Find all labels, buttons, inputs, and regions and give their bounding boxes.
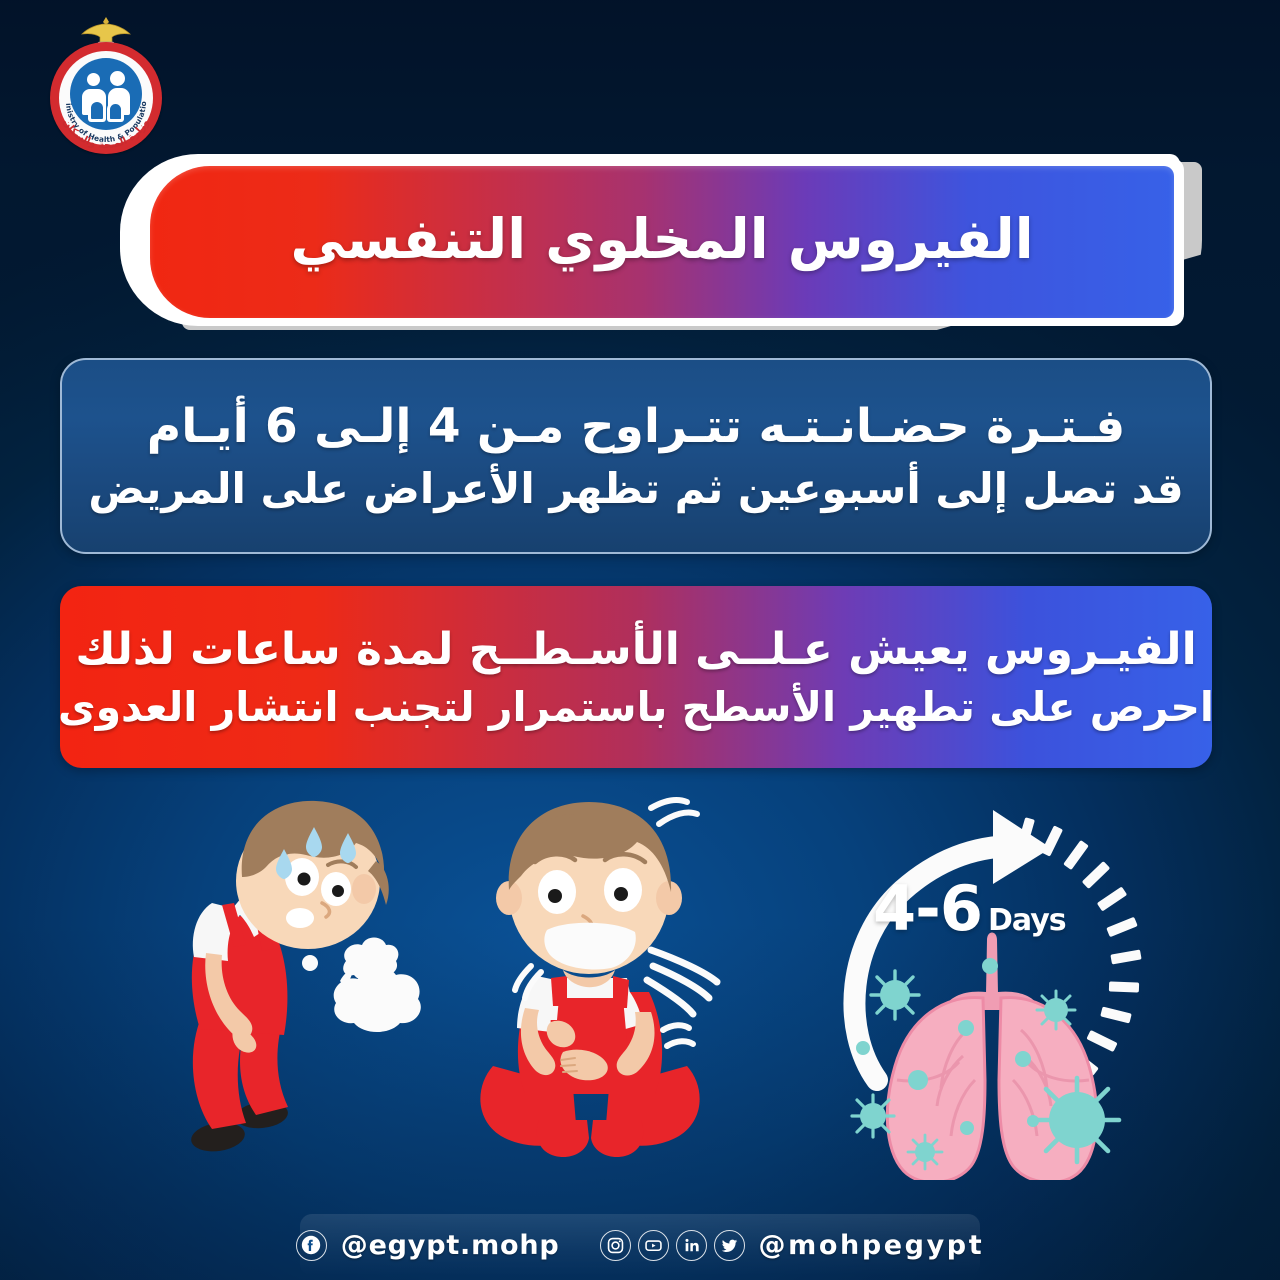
coughing-child-illustration — [455, 780, 725, 1180]
surface-line-1: الفيـروس يعيش عـلــى الأسـطــح لمدة ساعا… — [75, 624, 1196, 675]
social-footer: @egypt.mohp — [300, 1214, 980, 1276]
logo-family-circle — [70, 58, 142, 130]
youtube-icon[interactable] — [638, 1230, 669, 1261]
logo-outer-ring: Ministry of Health & Population وزارة ال… — [50, 42, 162, 154]
title-banner: الفيروس المخلوي التنفسي — [112, 150, 1202, 340]
days-unit-label: Days — [988, 903, 1066, 938]
twitter-icon[interactable] — [714, 1230, 745, 1261]
incubation-line-1: فـتـرة حضـانـتـه تتـراوح مـن 4 إلـى 6 أي… — [147, 399, 1125, 454]
linkedin-icon[interactable] — [676, 1230, 707, 1261]
illustration-row — [0, 775, 1280, 1175]
incubation-clock-illustration — [825, 780, 1170, 1180]
days-range-value: 4-6 — [873, 872, 982, 945]
infographic-poster: مصر Ministry of Health & Population وزار… — [0, 0, 1280, 1280]
page-title: الفيروس المخلوي التنفسي — [290, 207, 1033, 277]
shared-social-handle[interactable]: @mohpegypt — [759, 1230, 985, 1261]
incubation-period-box: فـتـرة حضـانـتـه تتـراوح مـن 4 إلـى 6 أي… — [60, 358, 1212, 554]
instagram-icon[interactable] — [600, 1230, 631, 1261]
social-icon-group — [600, 1230, 745, 1261]
surface-line-2: احرص على تطهير الأسطح باستمرار لتجنب انت… — [58, 683, 1214, 731]
ministry-logo: مصر Ministry of Health & Population وزار… — [42, 14, 170, 160]
incubation-line-2: قد تصل إلى أسبوعين ثم تظهر الأعراض على ا… — [88, 464, 1183, 513]
surface-survival-box: الفيـروس يعيش عـلــى الأسـطــح لمدة ساعا… — [60, 586, 1212, 768]
facebook-icon[interactable] — [296, 1230, 327, 1261]
incubation-days-label: 4-6 Days — [873, 872, 1066, 945]
facebook-handle[interactable]: @egypt.mohp — [341, 1230, 560, 1261]
sick-child-bending-illustration — [150, 785, 450, 1175]
banner-gradient-bar: الفيروس المخلوي التنفسي — [150, 166, 1174, 318]
